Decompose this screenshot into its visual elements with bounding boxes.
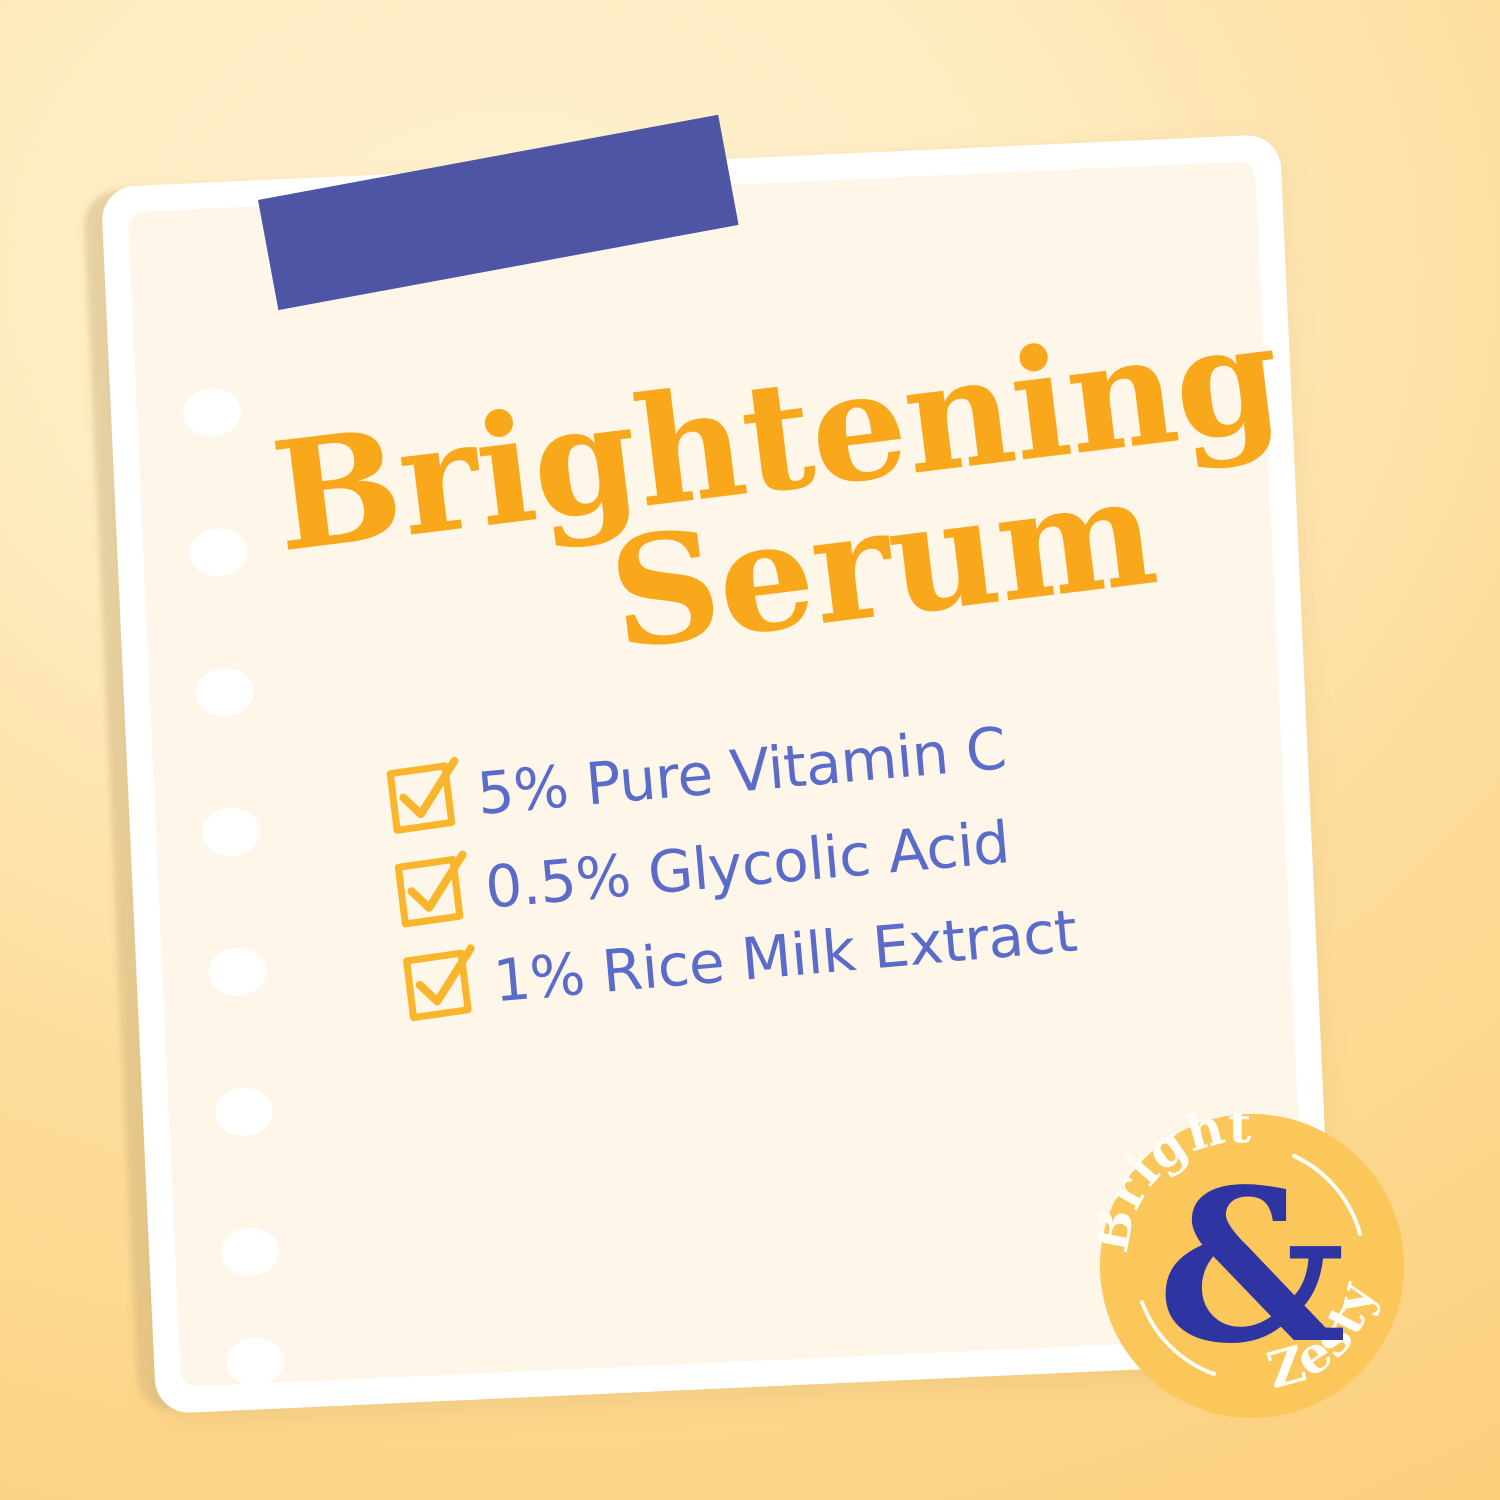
punch-hole — [201, 807, 261, 858]
checkbox-checked-icon — [395, 859, 462, 926]
punch-hole — [214, 1087, 274, 1138]
punch-hole — [207, 947, 267, 998]
punch-hole — [195, 667, 255, 718]
badge-ampersand: & — [1157, 1143, 1347, 1390]
punch-hole — [225, 1336, 285, 1387]
bright-and-zesty-badge: Bright Zesty & — [1098, 1112, 1406, 1420]
punch-hole — [182, 387, 242, 438]
punch-hole — [220, 1226, 280, 1277]
punch-hole — [188, 527, 248, 578]
poster-canvas: Brightening Serum 5% Pure Vitamin C 0.5%… — [0, 0, 1500, 1500]
checkbox-checked-icon — [387, 766, 454, 833]
checkbox-checked-icon — [403, 953, 470, 1020]
